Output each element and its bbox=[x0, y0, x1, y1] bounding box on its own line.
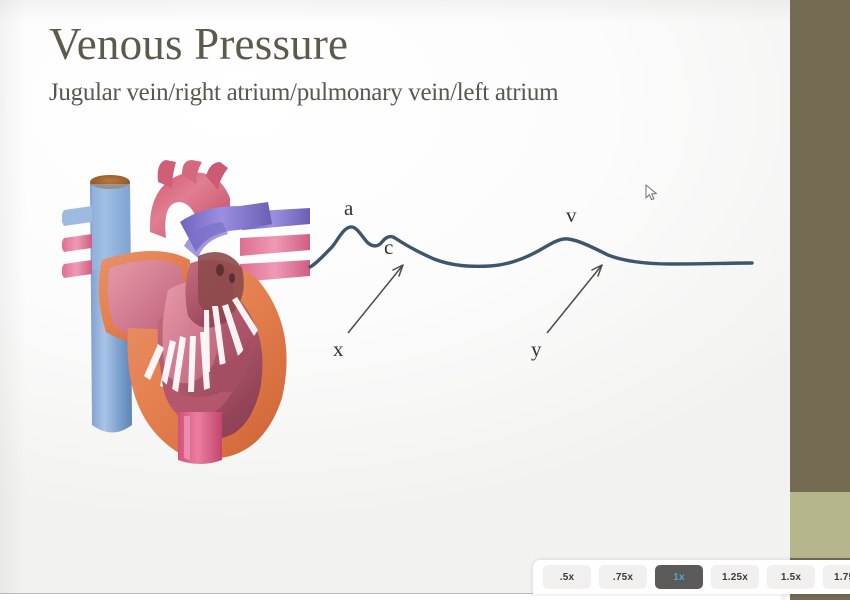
x-descent-arrow bbox=[348, 265, 403, 333]
screen: Venous Pressure Jugular vein/right atriu… bbox=[0, 0, 850, 600]
y-descent-arrow bbox=[547, 265, 602, 333]
right-panel bbox=[790, 0, 850, 600]
waveform-label-v: v bbox=[566, 203, 577, 228]
page-subtitle: Jugular vein/right atrium/pulmonary vein… bbox=[49, 78, 558, 108]
playback-speed-control[interactable]: .5x .75x 1x 1.25x 1.5x 1.75x 2x bbox=[533, 560, 850, 594]
right-panel-light-band bbox=[790, 492, 850, 558]
slide-canvas: Venous Pressure Jugular vein/right atriu… bbox=[0, 0, 790, 594]
waveform-label-c: c bbox=[384, 235, 393, 260]
speed-button-0-5x[interactable]: .5x bbox=[543, 565, 591, 589]
waveform-trace bbox=[310, 227, 752, 267]
speed-button-0-75x[interactable]: .75x bbox=[599, 565, 647, 589]
waveform-label-x: x bbox=[333, 337, 344, 362]
speed-button-1-25x[interactable]: 1.25x bbox=[711, 565, 759, 589]
waveform-label-a: a bbox=[344, 196, 353, 221]
speed-button-1-5x[interactable]: 1.5x bbox=[767, 565, 815, 589]
speed-button-1x[interactable]: 1x bbox=[655, 565, 703, 589]
page-title: Venous Pressure bbox=[49, 18, 348, 70]
waveform-label-y: y bbox=[531, 337, 542, 362]
speed-button-1-75x[interactable]: 1.75x bbox=[823, 565, 850, 589]
heart-illustration bbox=[62, 160, 312, 465]
